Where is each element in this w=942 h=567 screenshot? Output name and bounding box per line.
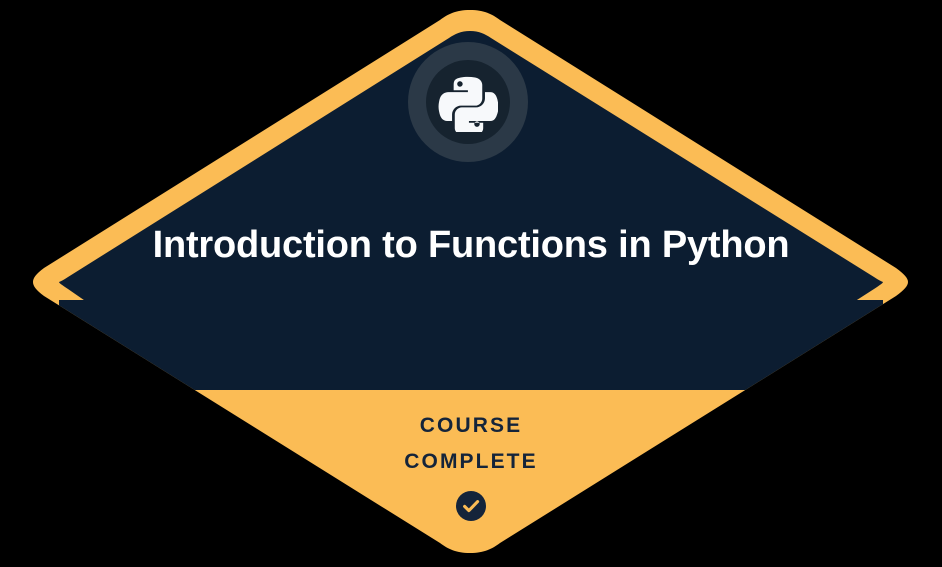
check-circle-icon bbox=[456, 491, 486, 521]
course-title: Introduction to Functions in Python bbox=[131, 222, 811, 268]
completion-label-line-1: COURSE bbox=[231, 408, 711, 444]
completion-status: COURSE COMPLETE bbox=[231, 408, 711, 521]
badge-canvas: Introduction to Functions in Python COUR… bbox=[0, 0, 942, 567]
completion-label: COURSE COMPLETE bbox=[231, 408, 711, 480]
python-logo-icon bbox=[438, 72, 498, 132]
python-emblem bbox=[408, 42, 528, 162]
completion-label-line-2: COMPLETE bbox=[231, 444, 711, 480]
